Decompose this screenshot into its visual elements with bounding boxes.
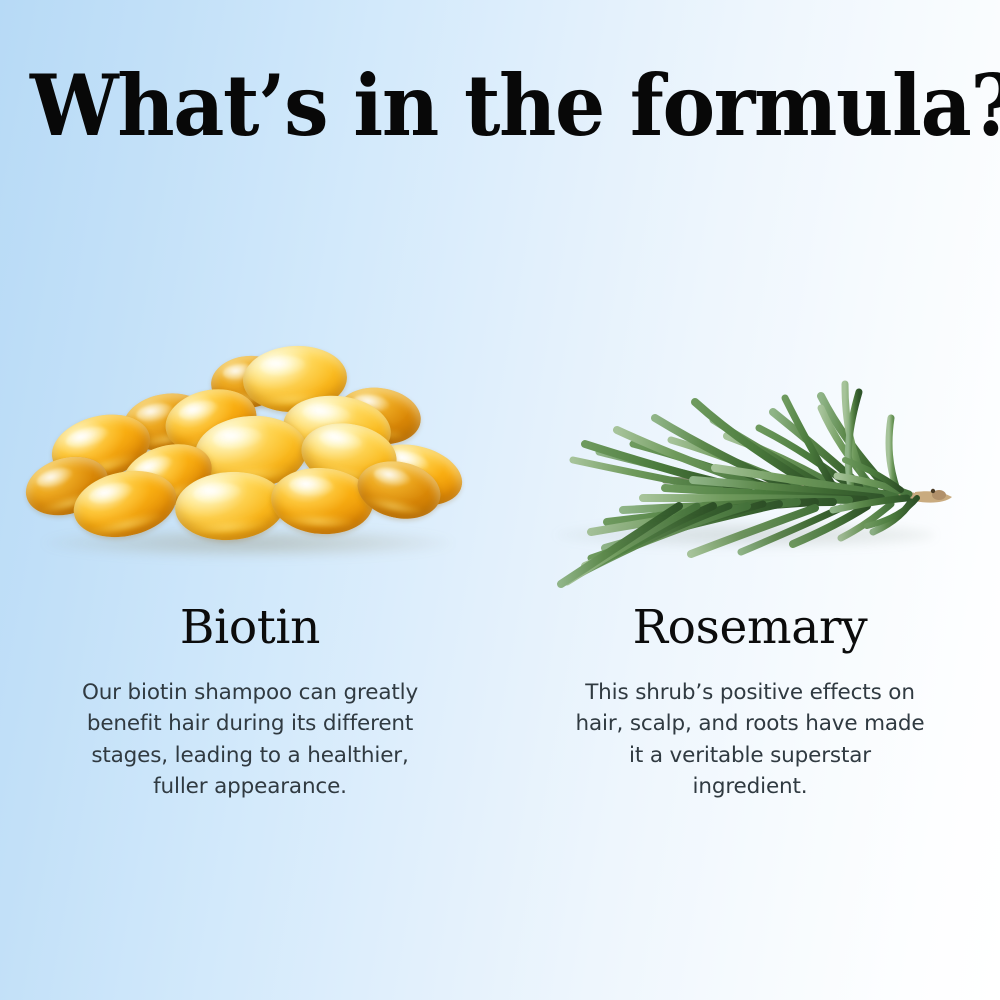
ingredient-name-biotin: Biotin [180,604,320,651]
ingredient-name-rosemary: Rosemary [633,604,868,651]
biotin-capsules-image [15,340,485,590]
ingredient-column-biotin: Biotin Our biotin shampoo can greatly be… [0,340,500,880]
ingredient-column-rosemary: Rosemary This shrub’s positive effects o… [500,340,1000,880]
ingredient-description-biotin: Our biotin shampoo can greatly benefit h… [70,677,430,803]
capsule-pile [15,340,485,590]
rosemary-shadow [555,522,935,548]
rosemary-sprig [515,340,985,590]
page-title: What’s in the formula? [30,62,970,150]
ingredients-row: Biotin Our biotin shampoo can greatly be… [0,340,1000,880]
rosemary-sprig-image [515,340,985,590]
ingredient-description-rosemary: This shrub’s positive effects on hair, s… [570,677,930,803]
formula-ingredients-poster: What’s in the formula? [0,0,1000,1000]
rosemary-svg [515,340,985,590]
